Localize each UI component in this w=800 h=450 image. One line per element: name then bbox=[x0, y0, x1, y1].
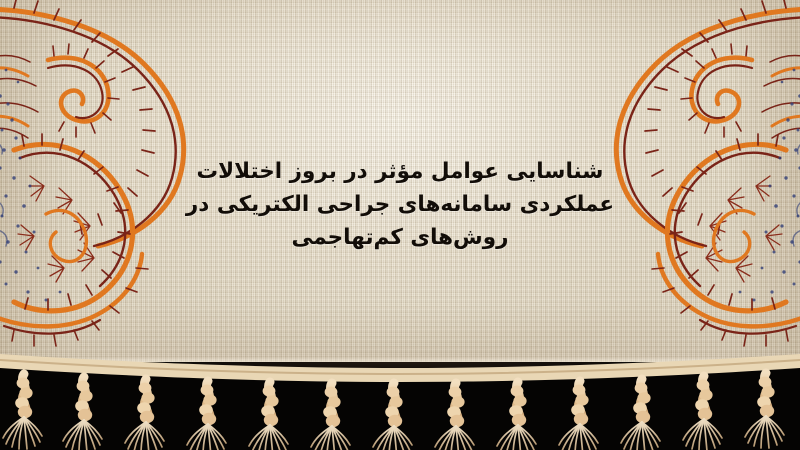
title-line-1: شناسایی عوامل مؤثر در بروز اختلالات bbox=[0, 155, 800, 188]
slide-canvas: شناسایی عوامل مؤثر در بروز اختلالات عملک… bbox=[0, 0, 800, 450]
title-line-2: عملکردی سامانه‌های جراحی الکتریکی در bbox=[0, 188, 800, 221]
title-line-3: روش‌های کم‌تهاجمی bbox=[0, 221, 800, 254]
slide-title: شناسایی عوامل مؤثر در بروز اختلالات عملک… bbox=[0, 155, 800, 254]
tassel-fringe bbox=[0, 352, 800, 450]
